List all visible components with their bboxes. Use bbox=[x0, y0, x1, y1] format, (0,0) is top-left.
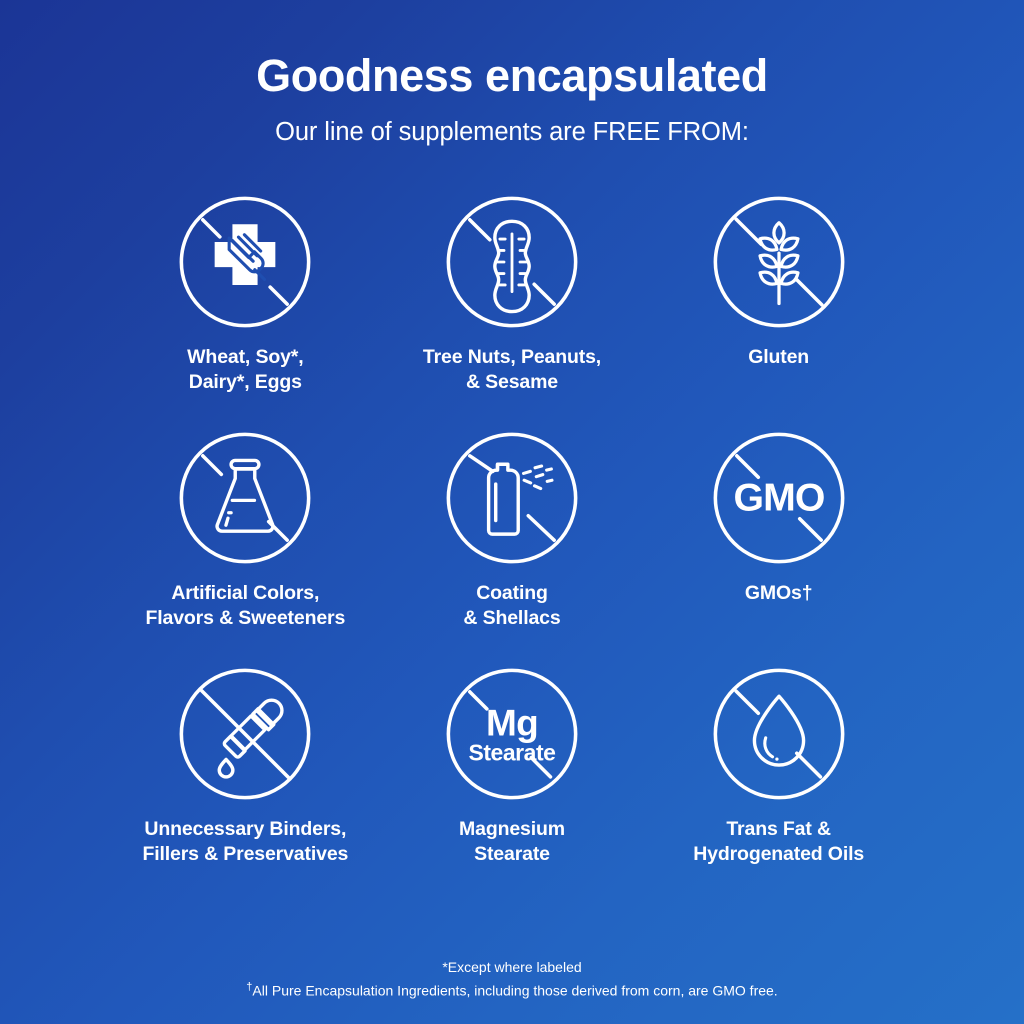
no-wheat-stalk-icon bbox=[705, 188, 853, 336]
mg-icon-text: Mg bbox=[486, 702, 538, 743]
footnote-dagger: †All Pure Encapsulation Ingredients, inc… bbox=[0, 979, 1024, 1002]
free-from-item-nuts: Tree Nuts, Peanuts, & Sesame bbox=[379, 188, 646, 424]
free-from-item-magnesium-stearate: Mg Stearate Magnesium Stearate bbox=[379, 660, 646, 896]
item-label: Artificial Colors, Flavors & Sweeteners bbox=[145, 581, 345, 632]
item-label: Unnecessary Binders, Fillers & Preservat… bbox=[142, 817, 348, 868]
gmo-icon-text: GMO bbox=[733, 475, 824, 519]
no-peanut-icon bbox=[438, 188, 586, 336]
free-from-item-coating: Coating & Shellacs bbox=[379, 424, 646, 660]
no-magnesium-stearate-icon: Mg Stearate bbox=[438, 660, 586, 808]
no-oil-drop-icon bbox=[705, 660, 853, 808]
item-label: Trans Fat & Hydrogenated Oils bbox=[693, 817, 864, 868]
item-label: GMOs† bbox=[745, 581, 813, 606]
item-label: Coating & Shellacs bbox=[463, 581, 560, 632]
no-flask-icon bbox=[171, 424, 319, 572]
free-from-item-allergens: Wheat, Soy*, Dairy*, Eggs bbox=[112, 188, 379, 424]
footnote-asterisk: *Except where labeled bbox=[0, 957, 1024, 979]
free-from-grid: Wheat, Soy*, Dairy*, Eggs bbox=[112, 188, 912, 896]
no-dropper-icon bbox=[171, 660, 319, 808]
free-from-item-gluten: Gluten bbox=[645, 188, 912, 424]
stearate-icon-text: Stearate bbox=[468, 739, 555, 765]
item-label: Magnesium Stearate bbox=[459, 817, 565, 868]
free-from-item-binders: Unnecessary Binders, Fillers & Preservat… bbox=[112, 660, 379, 896]
item-label: Gluten bbox=[748, 345, 809, 370]
item-label: Wheat, Soy*, Dairy*, Eggs bbox=[187, 345, 303, 396]
free-from-item-trans-fat: Trans Fat & Hydrogenated Oils bbox=[645, 660, 912, 896]
footnote-dagger-text: All Pure Encapsulation Ingredients, incl… bbox=[252, 982, 777, 998]
no-spray-can-icon bbox=[438, 424, 586, 572]
free-from-item-artificial-colors: Artificial Colors, Flavors & Sweeteners bbox=[112, 424, 379, 660]
page-subtitle: Our line of supplements are FREE FROM: bbox=[0, 118, 1024, 147]
no-allergens-fork-cross-icon bbox=[171, 188, 319, 336]
free-from-infographic: Goodness encapsulated Our line of supple… bbox=[0, 0, 1024, 1024]
no-gmo-text-icon: GMO bbox=[705, 424, 853, 572]
footnotes: *Except where labeled †All Pure Encapsul… bbox=[0, 957, 1024, 1002]
header: Goodness encapsulated Our line of supple… bbox=[0, 0, 1024, 147]
page-title: Goodness encapsulated bbox=[0, 52, 1024, 101]
free-from-item-gmo: GMO GMOs† bbox=[645, 424, 912, 660]
item-label: Tree Nuts, Peanuts, & Sesame bbox=[423, 345, 601, 396]
